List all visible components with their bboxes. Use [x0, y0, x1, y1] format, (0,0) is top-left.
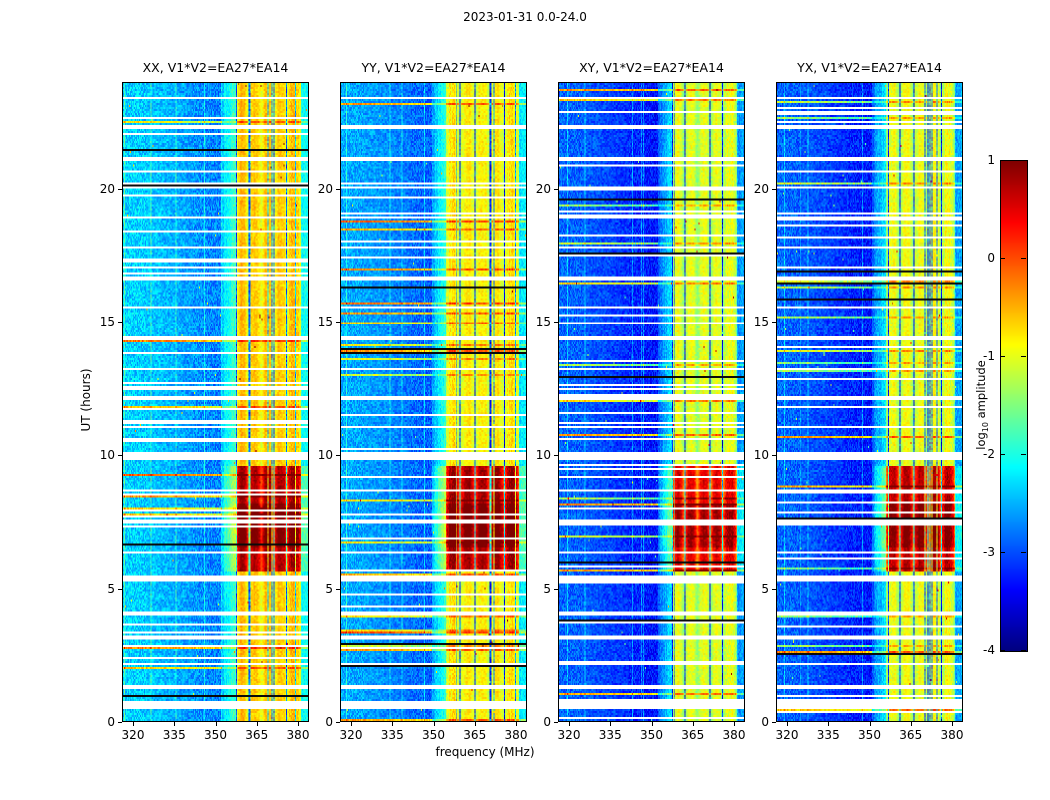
y-tick-label: 0 — [543, 715, 551, 729]
y-tick-label: 20 — [536, 182, 551, 196]
y-tick-mark — [772, 189, 776, 190]
colorbar-label: log10 amplitude — [974, 360, 990, 450]
y-tick-label: 0 — [107, 715, 115, 729]
x-ticks-yx: 320335350365380 — [776, 722, 963, 762]
x-tick-mark — [828, 722, 829, 726]
colorbar-label-suffix: amplitude — [974, 360, 988, 422]
y-tick-label: 10 — [100, 448, 115, 462]
y-tick-label: 0 — [325, 715, 333, 729]
x-ticks-xy: 320335350365380 — [558, 722, 745, 762]
x-tick-mark — [787, 722, 788, 726]
x-tick-mark — [133, 722, 134, 726]
panel-title-xy: XY, V1*V2=EA27*EA14 — [579, 60, 724, 75]
colorbar-tick-mark — [1021, 650, 1026, 651]
colorbar-label-sub: 10 — [981, 422, 990, 432]
y-tick-label: 20 — [754, 182, 769, 196]
y-tick-label: 15 — [754, 315, 769, 329]
x-tick-label: 335 — [381, 728, 404, 742]
x-tick-label: 320 — [558, 728, 581, 742]
y-tick-mark — [118, 455, 122, 456]
y-tick-label: 20 — [100, 182, 115, 196]
x-tick-label: 335 — [817, 728, 840, 742]
panel-xy: XY, V1*V2=EA27*EA14051015203203353503653… — [558, 82, 745, 722]
x-tick-label: 335 — [163, 728, 186, 742]
x-ticks-xx: 320335350365380 — [122, 722, 309, 762]
y-tick-label: 10 — [754, 448, 769, 462]
x-tick-mark — [911, 722, 912, 726]
y-tick-mark — [554, 589, 558, 590]
x-tick-label: 350 — [640, 728, 663, 742]
y-tick-mark — [554, 189, 558, 190]
x-ticks-yy: 320335350365380 — [340, 722, 527, 762]
colorbar-ticks: -4-3-2-101 — [1000, 160, 1026, 650]
colorbar-tick-mark — [1000, 160, 1005, 161]
y-tick-mark — [554, 455, 558, 456]
panel-title-yx: YX, V1*V2=EA27*EA14 — [797, 60, 942, 75]
y-tick-label: 10 — [318, 448, 333, 462]
x-tick-label: 320 — [776, 728, 799, 742]
x-tick-mark — [257, 722, 258, 726]
colorbar-tick-label: 1 — [987, 153, 995, 167]
y-tick-label: 5 — [107, 582, 115, 596]
colorbar-tick-mark — [1021, 258, 1026, 259]
x-tick-label: 335 — [599, 728, 622, 742]
x-tick-mark — [870, 722, 871, 726]
y-tick-label: 0 — [761, 715, 769, 729]
x-tick-label: 320 — [340, 728, 363, 742]
x-tick-mark — [610, 722, 611, 726]
waterfall-axes-yy[interactable] — [340, 82, 527, 722]
x-tick-mark — [475, 722, 476, 726]
x-tick-mark — [392, 722, 393, 726]
y-tick-mark — [118, 322, 122, 323]
waterfall-axes-yx[interactable] — [776, 82, 963, 722]
y-tick-label: 5 — [761, 582, 769, 596]
panel-yx: YX, V1*V2=EA27*EA14051015203203353503653… — [776, 82, 963, 722]
colorbar-tick-mark — [1000, 650, 1005, 651]
y-tick-mark — [772, 455, 776, 456]
x-tick-label: 380 — [941, 728, 964, 742]
y-tick-label: 15 — [536, 315, 551, 329]
x-tick-mark — [434, 722, 435, 726]
x-tick-label: 320 — [122, 728, 145, 742]
x-tick-mark — [952, 722, 953, 726]
panel-xx: XX, V1*V2=EA27*EA14051015203203353503653… — [122, 82, 309, 722]
x-tick-mark — [516, 722, 517, 726]
x-tick-mark — [298, 722, 299, 726]
y-tick-mark — [772, 589, 776, 590]
colorbar-tick-mark — [1000, 356, 1005, 357]
colorbar-tick-label: -4 — [983, 643, 995, 657]
waterfall-axes-xx[interactable] — [122, 82, 309, 722]
waterfall-image-yx — [777, 83, 962, 721]
colorbar-tick-label: 0 — [987, 251, 995, 265]
x-tick-label: 365 — [245, 728, 268, 742]
y-tick-mark — [336, 322, 340, 323]
x-tick-mark — [216, 722, 217, 726]
waterfall-axes-xy[interactable] — [558, 82, 745, 722]
colorbar-tick-mark — [1021, 552, 1026, 553]
y-tick-mark — [118, 589, 122, 590]
colorbar-tick-mark — [1000, 454, 1005, 455]
waterfall-image-yy — [341, 83, 526, 721]
colorbar-tick-label: -3 — [983, 545, 995, 559]
x-tick-label: 365 — [463, 728, 486, 742]
y-tick-label: 5 — [325, 582, 333, 596]
colorbar-tick-mark — [1000, 258, 1005, 259]
colorbar-tick-mark — [1021, 454, 1026, 455]
y-tick-mark — [336, 455, 340, 456]
y-tick-label: 10 — [536, 448, 551, 462]
y-tick-mark — [118, 189, 122, 190]
y-tick-mark — [772, 322, 776, 323]
y-axis-label: UT (hours) — [79, 368, 93, 431]
figure-suptitle: 2023-01-31 0.0-24.0 — [0, 10, 1050, 24]
x-tick-mark — [652, 722, 653, 726]
y-tick-label: 20 — [318, 182, 333, 196]
y-tick-label: 15 — [100, 315, 115, 329]
y-tick-mark — [554, 322, 558, 323]
colorbar-tick-mark — [1021, 160, 1026, 161]
x-tick-mark — [569, 722, 570, 726]
panel-title-xx: XX, V1*V2=EA27*EA14 — [143, 60, 289, 75]
x-tick-label: 380 — [505, 728, 528, 742]
x-tick-label: 365 — [681, 728, 704, 742]
waterfall-image-xy — [559, 83, 744, 721]
x-tick-mark — [351, 722, 352, 726]
y-tick-mark — [336, 589, 340, 590]
y-tick-label: 5 — [543, 582, 551, 596]
x-tick-label: 380 — [723, 728, 746, 742]
y-tick-mark — [336, 189, 340, 190]
x-tick-label: 350 — [204, 728, 227, 742]
x-tick-mark — [174, 722, 175, 726]
panel-title-yy: YY, V1*V2=EA27*EA14 — [362, 60, 506, 75]
x-tick-mark — [734, 722, 735, 726]
colorbar-tick-mark — [1000, 552, 1005, 553]
panel-yy: YY, V1*V2=EA27*EA14051015203203353503653… — [340, 82, 527, 722]
x-tick-mark — [693, 722, 694, 726]
y-tick-label: 15 — [318, 315, 333, 329]
colorbar-label-prefix: log — [974, 432, 988, 450]
x-tick-label: 380 — [287, 728, 310, 742]
x-tick-label: 365 — [899, 728, 922, 742]
colorbar-tick-mark — [1021, 356, 1026, 357]
waterfall-image-xx — [123, 83, 308, 721]
x-tick-label: 350 — [858, 728, 881, 742]
x-tick-label: 350 — [422, 728, 445, 742]
